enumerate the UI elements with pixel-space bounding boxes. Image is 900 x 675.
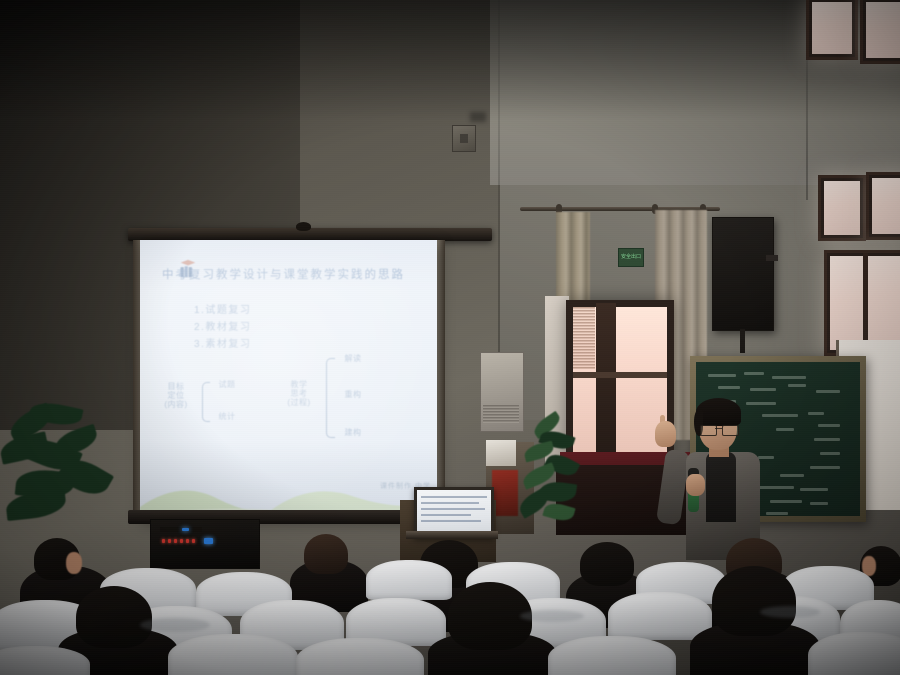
chair-cover	[296, 638, 424, 675]
chair-cover	[808, 632, 900, 675]
wall-outlet-box	[452, 125, 476, 152]
diagram-right-brace	[326, 358, 335, 438]
white-box-item	[486, 440, 516, 466]
led-indicator	[168, 539, 171, 543]
led-indicator-blue	[204, 538, 213, 544]
speaker-bracket	[766, 255, 778, 261]
attendee-head	[304, 534, 348, 574]
chair-cover	[548, 636, 676, 675]
diagram-left-label: 目标 定位 (内容)	[156, 382, 196, 409]
window-middle-right	[866, 172, 900, 240]
presenter-inner-shirt	[706, 452, 736, 522]
window-upper-right	[860, 0, 900, 64]
projection-screen: 中考复习教学设计与课堂教学实践的思路 1.试题复习 2.教材复习 3.素材复习 …	[140, 240, 437, 519]
door-leaf[interactable]	[596, 303, 616, 457]
window-middle-left	[818, 175, 866, 241]
wall-box-shadow	[470, 112, 486, 122]
ceiling-shadow	[0, 0, 900, 120]
led-indicator	[180, 539, 183, 543]
window-upper-left	[806, 0, 858, 60]
speaker-stand-stem	[740, 329, 745, 353]
attendee-head	[580, 542, 634, 586]
door-midrail	[573, 372, 667, 378]
diagram-right-item-2: 重构	[340, 390, 366, 399]
laptop-base	[406, 531, 498, 539]
led-indicator-blue	[182, 528, 189, 531]
chair-cover	[608, 592, 712, 640]
attendee-face	[66, 552, 82, 574]
presenter-mic-hand	[686, 474, 705, 496]
door-blinds	[573, 307, 595, 369]
diagram-left-item-1: 试题	[214, 380, 240, 389]
av-led-panel	[160, 527, 202, 532]
diagram-right-item-3: 建构	[340, 428, 366, 437]
attendee-head-foreground	[76, 586, 152, 648]
chair-cover	[168, 634, 298, 675]
air-conditioner-vent	[483, 405, 519, 423]
screen-edge-right	[437, 240, 445, 521]
led-indicator	[186, 539, 189, 543]
exit-sign: 安全出口	[618, 248, 644, 267]
diagram-right-label: 教学 思考 (过程)	[278, 380, 320, 407]
wall-speaker	[712, 217, 774, 331]
classroom-photo: 安全出口	[0, 0, 900, 675]
chair-cover	[366, 560, 452, 600]
led-indicator	[174, 539, 177, 543]
attendee-head-foreground	[712, 566, 796, 636]
projected-slide: 中考复习教学设计与课堂教学实践的思路 1.试题复习 2.教材复习 3.素材复习 …	[140, 240, 437, 519]
diagram-right-item-1: 解读	[340, 354, 366, 363]
exit-sign-label: 安全出口	[621, 255, 641, 260]
screen-pull-knob[interactable]	[296, 222, 311, 231]
diagram-left-brace	[202, 382, 210, 422]
presenter-glasses	[700, 425, 737, 434]
led-indicator	[192, 539, 195, 543]
presenter-raised-hand	[655, 421, 676, 447]
led-indicator	[162, 539, 165, 543]
diagram-left-item-2: 统计	[214, 412, 240, 421]
